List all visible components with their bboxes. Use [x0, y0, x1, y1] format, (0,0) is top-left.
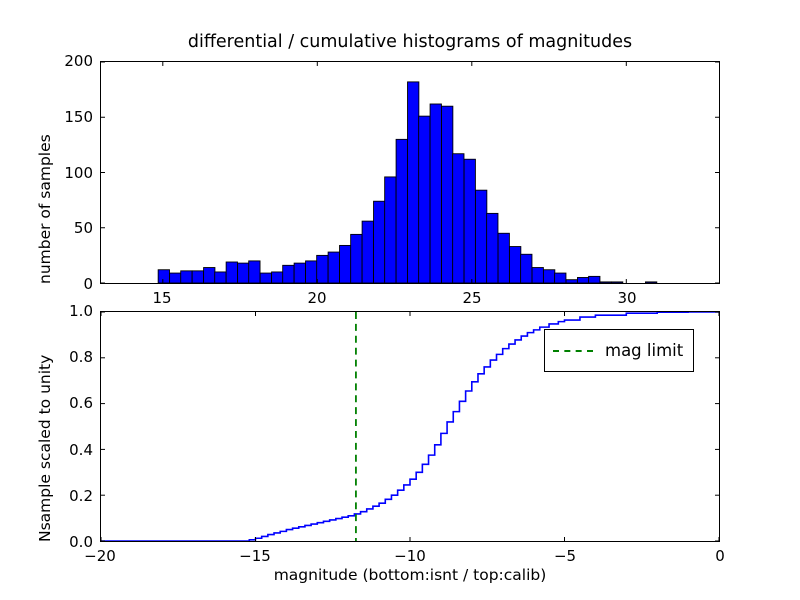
histogram-y-axis-label: number of samples — [36, 134, 54, 284]
cumulative-y-axis-label: Nsample scaled to unity — [36, 355, 54, 542]
mag-limit-line-icon — [553, 350, 593, 352]
cumulative-x-tick-label: −10 — [394, 547, 426, 565]
cumulative-x-axis-label: magnitude (bottom:isnt / top:calib) — [100, 566, 720, 584]
cumulative-x-tick-label: 0 — [715, 547, 725, 565]
histogram-bar — [249, 261, 260, 283]
histogram-bar — [374, 201, 385, 283]
cumulative-y-tick-label: 0.4 — [69, 441, 93, 459]
histogram-y-tick-label: 150 — [64, 108, 93, 126]
histogram-bar — [340, 245, 351, 283]
histogram-bar — [611, 282, 622, 283]
histogram-bar — [464, 159, 475, 283]
histogram-x-tick-label: 20 — [307, 289, 326, 307]
cumulative-y-tick-label: 0.2 — [69, 487, 93, 505]
histogram-bar — [272, 272, 283, 283]
histogram-bar — [555, 273, 566, 283]
page-title: differential / cumulative histograms of … — [100, 32, 720, 52]
histogram-bar — [158, 270, 169, 283]
histogram-bar — [521, 254, 532, 283]
histogram-bar — [294, 263, 305, 283]
histogram-bar — [260, 273, 271, 283]
histogram-bar — [498, 233, 509, 283]
histogram-bar — [238, 263, 249, 283]
histogram-bar — [396, 139, 407, 283]
histogram-axes — [100, 61, 720, 284]
histogram-bar — [170, 273, 181, 283]
figure-canvas: differential / cumulative histograms of … — [0, 0, 800, 600]
cumulative-y-tick-label: 0.8 — [69, 348, 93, 366]
histogram-y-tick-label: 200 — [64, 52, 93, 70]
histogram-bar — [430, 104, 441, 283]
histogram-bar — [532, 268, 543, 283]
histogram-bar — [442, 106, 453, 283]
cumulative-x-tick-label: −15 — [239, 547, 271, 565]
histogram-bar — [306, 261, 317, 283]
legend-label-mag-limit: mag limit — [605, 341, 683, 360]
histogram-bar — [577, 277, 588, 283]
histogram-bar — [385, 177, 396, 283]
histogram-bar — [204, 268, 215, 283]
histogram-bar — [566, 280, 577, 283]
histogram-bar — [328, 252, 339, 283]
legend: mag limit — [544, 329, 694, 372]
histogram-y-tick-label: 50 — [74, 219, 93, 237]
histogram-bar — [215, 272, 226, 283]
histogram-plot-area — [101, 62, 719, 283]
histogram-y-tick-label: 0 — [83, 275, 93, 293]
histogram-bar — [476, 190, 487, 283]
histogram-bar — [453, 154, 464, 283]
histogram-bar — [317, 255, 328, 283]
histogram-bar — [543, 270, 554, 283]
cumulative-x-tick-label: −20 — [84, 547, 116, 565]
histogram-bar — [226, 262, 237, 283]
histogram-bar — [362, 221, 373, 283]
cumulative-y-tick-label: 1.0 — [69, 302, 93, 320]
histogram-bar — [351, 234, 362, 283]
histogram-bar — [283, 265, 294, 283]
histogram-bar — [487, 213, 498, 283]
histogram-x-tick-label: 15 — [152, 289, 171, 307]
cumulative-y-tick-label: 0.6 — [69, 394, 93, 412]
histogram-bar — [600, 282, 611, 283]
histogram-bar — [192, 271, 203, 283]
histogram-bar — [589, 276, 600, 283]
histogram-bar — [645, 282, 656, 283]
histogram-bar — [419, 116, 430, 283]
histogram-y-tick-label: 100 — [64, 164, 93, 182]
histogram-bar — [509, 247, 520, 283]
histogram-bars — [158, 82, 657, 283]
histogram-bar — [181, 271, 192, 283]
histogram-x-tick-label: 30 — [617, 289, 636, 307]
cumulative-x-tick-label: −5 — [554, 547, 576, 565]
histogram-x-tick-label: 25 — [462, 289, 481, 307]
histogram-bar — [408, 82, 419, 283]
